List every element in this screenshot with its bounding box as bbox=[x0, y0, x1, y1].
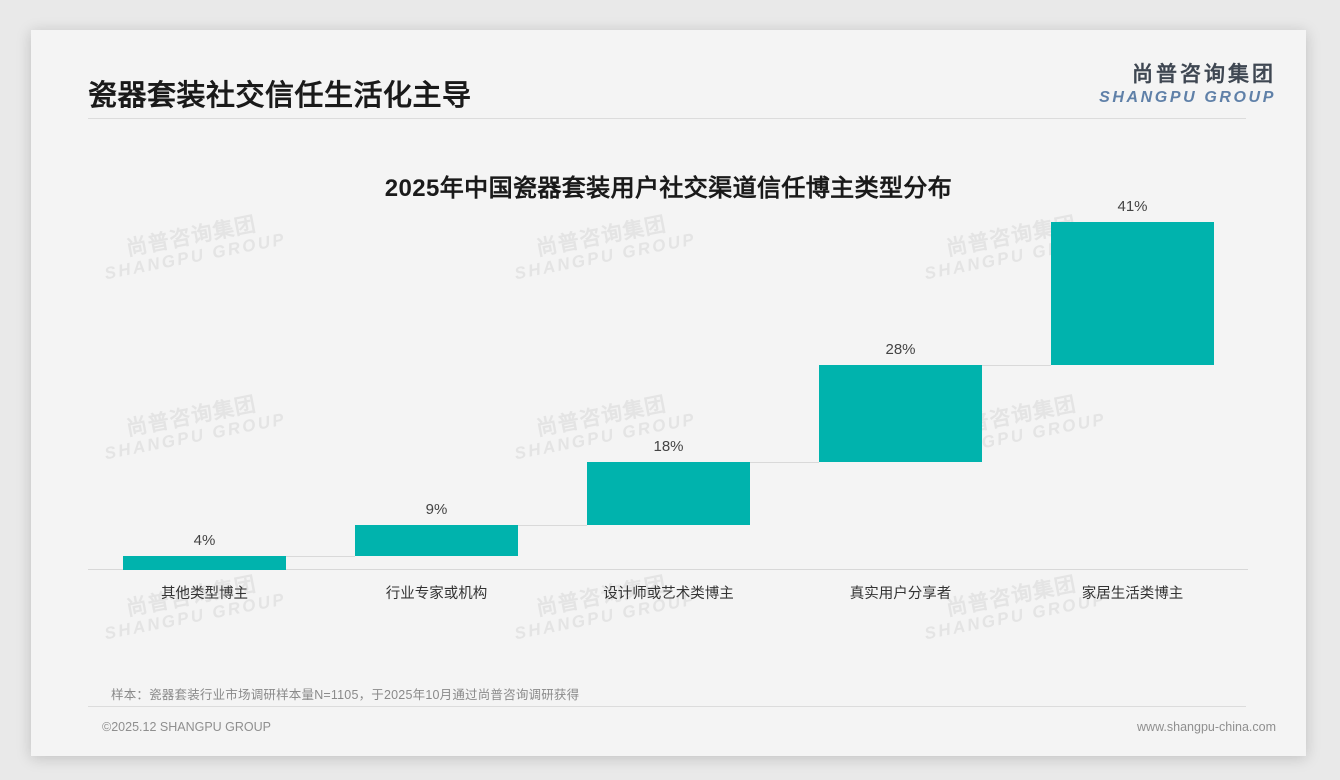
chart-plot-area: 4%其他类型博主9%行业专家或机构18%设计师或艺术类博主28%真实用户分享者4… bbox=[88, 200, 1253, 630]
chart-bar[interactable] bbox=[123, 556, 286, 570]
slide-header: 瓷器套装社交信任生活化主导 尚普咨询集团 SHANGPU GROUP bbox=[31, 30, 1306, 118]
chart-bar[interactable] bbox=[1051, 222, 1214, 365]
bar-value-label: 9% bbox=[355, 501, 518, 518]
logo-english-text: SHANGPU GROUP bbox=[1099, 89, 1276, 107]
footer-divider bbox=[88, 706, 1246, 707]
chart-bar[interactable] bbox=[355, 525, 518, 556]
waterfall-connector bbox=[750, 462, 819, 463]
copyright-text: ©2025.12 SHANGPU GROUP bbox=[102, 720, 271, 734]
x-axis-category-label: 家居生活类博主 bbox=[1011, 582, 1254, 603]
logo-chinese-text: 尚普咨询集团 bbox=[1099, 58, 1276, 88]
sample-note: 样本：瓷器套装行业市场调研样本量N=1105，于2025年10月通过尚普咨询调研… bbox=[111, 684, 579, 703]
website-link[interactable]: www.shangpu-china.com bbox=[1137, 720, 1276, 734]
x-axis-category-label: 真实用户分享者 bbox=[779, 582, 1022, 603]
chart-bar[interactable] bbox=[587, 462, 750, 525]
bar-value-label: 28% bbox=[819, 341, 982, 358]
x-axis-category-label: 其他类型博主 bbox=[83, 582, 326, 603]
page-title: 瓷器套装社交信任生活化主导 bbox=[88, 72, 472, 114]
brand-logo: 尚普咨询集团 SHANGPU GROUP bbox=[1099, 58, 1276, 107]
x-axis-category-label: 设计师或艺术类博主 bbox=[547, 582, 790, 603]
header-divider bbox=[88, 118, 1246, 119]
waterfall-connector bbox=[982, 365, 1051, 366]
slide-canvas: 尚普咨询集团 SHANGPU GROUP 尚普咨询集团 SHANGPU GROU… bbox=[31, 30, 1306, 756]
bar-value-label: 18% bbox=[587, 438, 750, 455]
x-axis-category-label: 行业专家或机构 bbox=[315, 582, 558, 603]
waterfall-connector bbox=[286, 556, 355, 557]
chart-bar[interactable] bbox=[819, 365, 982, 462]
chart-title: 2025年中国瓷器套装用户社交渠道信任博主类型分布 bbox=[31, 168, 1306, 203]
bar-value-label: 4% bbox=[123, 532, 286, 549]
waterfall-connector bbox=[518, 525, 587, 526]
